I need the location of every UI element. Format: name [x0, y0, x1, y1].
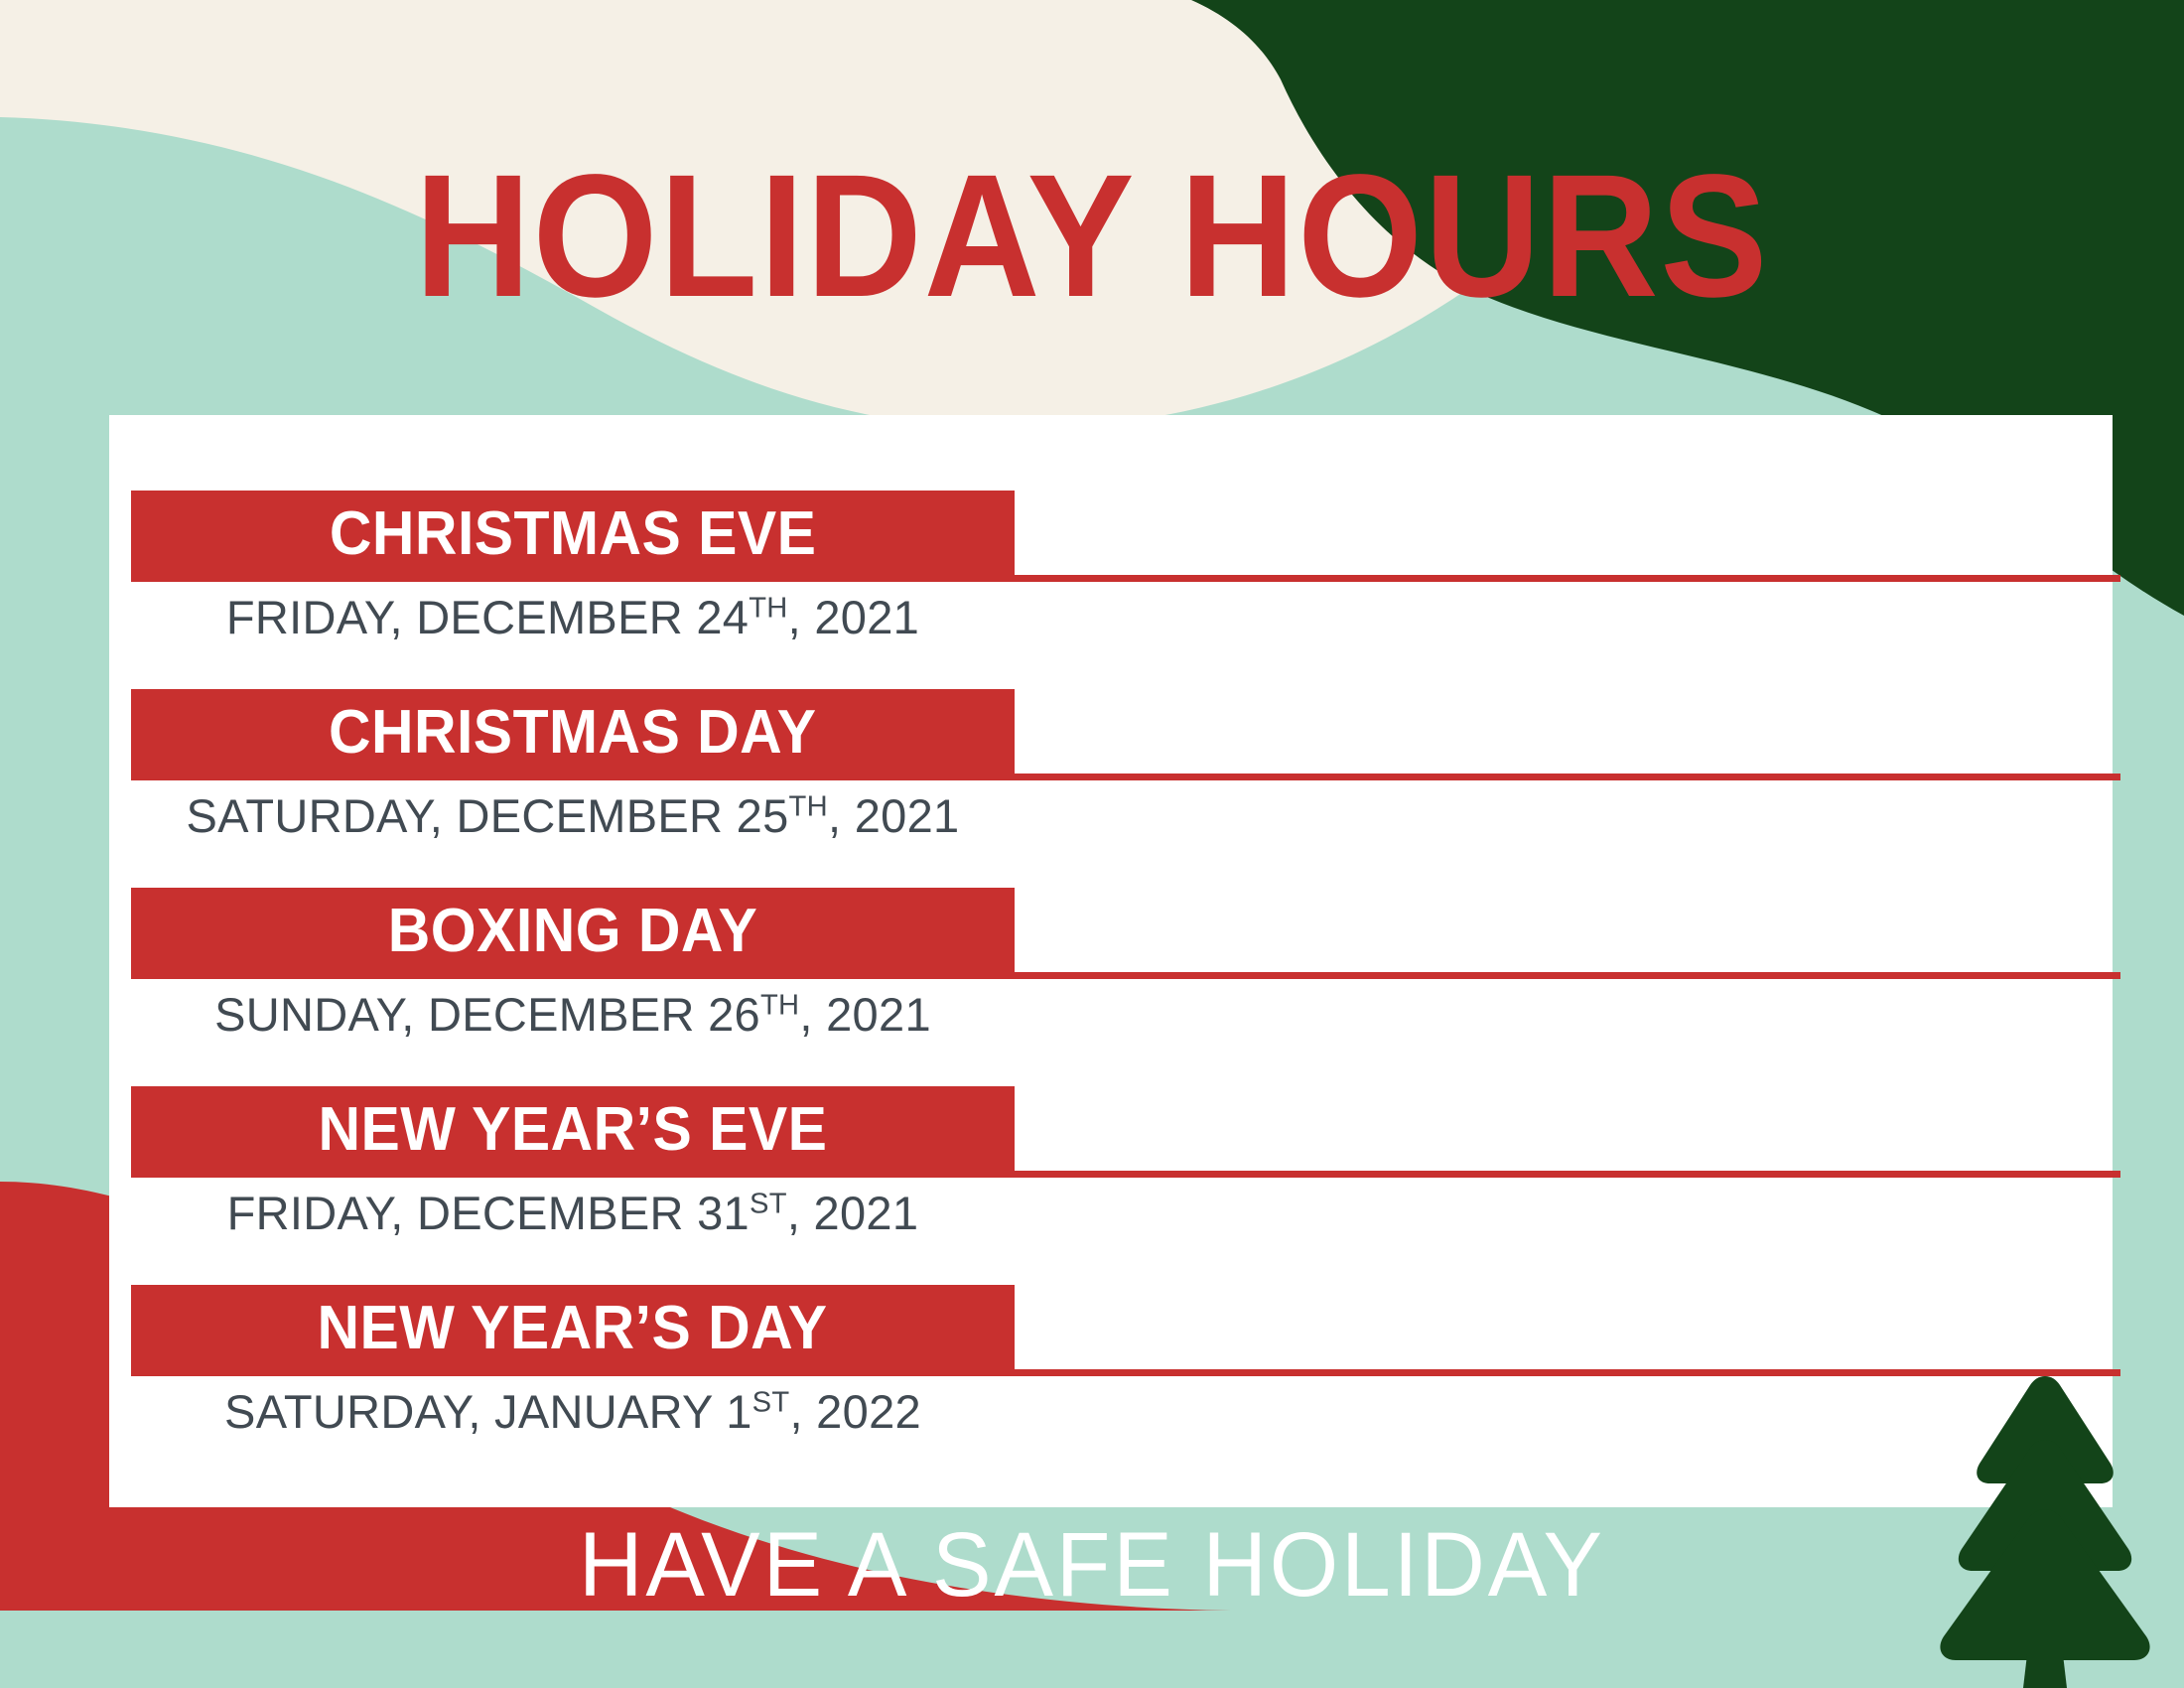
holiday-hours-list: CHRISTMAS EVE FRIDAY, DECEMBER 24TH, 202…	[109, 415, 2113, 1408]
holiday-row-bar-wrap: CHRISTMAS DAY	[109, 614, 2113, 721]
hours-write-in-rule	[1015, 1171, 2120, 1178]
holiday-row-bar-wrap: BOXING DAY	[109, 812, 2113, 919]
holiday-date: SATURDAY, JANUARY 1ST, 2022	[131, 1388, 1015, 1435]
hours-write-in-rule	[1015, 774, 2120, 780]
holiday-name-bar: NEW YEAR’S EVE	[131, 1086, 1015, 1178]
holiday-date-prefix: SATURDAY, JANUARY 1	[224, 1385, 752, 1438]
holiday-hours-poster: HOLIDAY HOURS CHRISTMAS EVE FRIDAY, DECE…	[0, 0, 2184, 1688]
holiday-row-bar-wrap: NEW YEAR’S DAY	[109, 1209, 2113, 1317]
holiday-name-label: NEW YEAR’S DAY	[318, 1298, 828, 1359]
holiday-date-ordinal: ST	[752, 1386, 790, 1418]
holiday-row: CHRISTMAS EVE FRIDAY, DECEMBER 24TH, 202…	[109, 415, 2113, 614]
holiday-name-label: CHRISTMAS EVE	[330, 503, 817, 565]
holiday-name-bar: BOXING DAY	[131, 888, 1015, 979]
footer-message: HAVE A SAFE HOLIDAY	[33, 1519, 2151, 1611]
christmas-tree-icon	[1916, 1360, 2184, 1688]
holiday-row: NEW YEAR’S EVE FRIDAY, DECEMBER 31ST, 20…	[109, 1011, 2113, 1209]
holiday-name-bar: CHRISTMAS DAY	[131, 689, 1015, 780]
holiday-row: CHRISTMAS DAY SATURDAY, DECEMBER 25TH, 2…	[109, 614, 2113, 812]
holiday-name-bar: NEW YEAR’S DAY	[131, 1285, 1015, 1376]
holiday-row-bar-wrap: NEW YEAR’S EVE	[109, 1011, 2113, 1118]
holiday-row: BOXING DAY SUNDAY, DECEMBER 26TH, 2021	[109, 812, 2113, 1011]
hours-write-in-rule	[1015, 575, 2120, 582]
holiday-row-bar-wrap: CHRISTMAS EVE	[109, 415, 2113, 522]
holiday-date-suffix: , 2022	[789, 1385, 920, 1438]
page-title: HOLIDAY HOURS	[87, 149, 2097, 324]
holiday-name-label: NEW YEAR’S EVE	[319, 1099, 828, 1161]
holiday-name-bar: CHRISTMAS EVE	[131, 491, 1015, 582]
hours-write-in-rule	[1015, 972, 2120, 979]
holiday-name-label: BOXING DAY	[388, 901, 757, 962]
holiday-row: NEW YEAR’S DAY SATURDAY, JANUARY 1ST, 20…	[109, 1209, 2113, 1408]
holiday-name-label: CHRISTMAS DAY	[329, 702, 817, 764]
